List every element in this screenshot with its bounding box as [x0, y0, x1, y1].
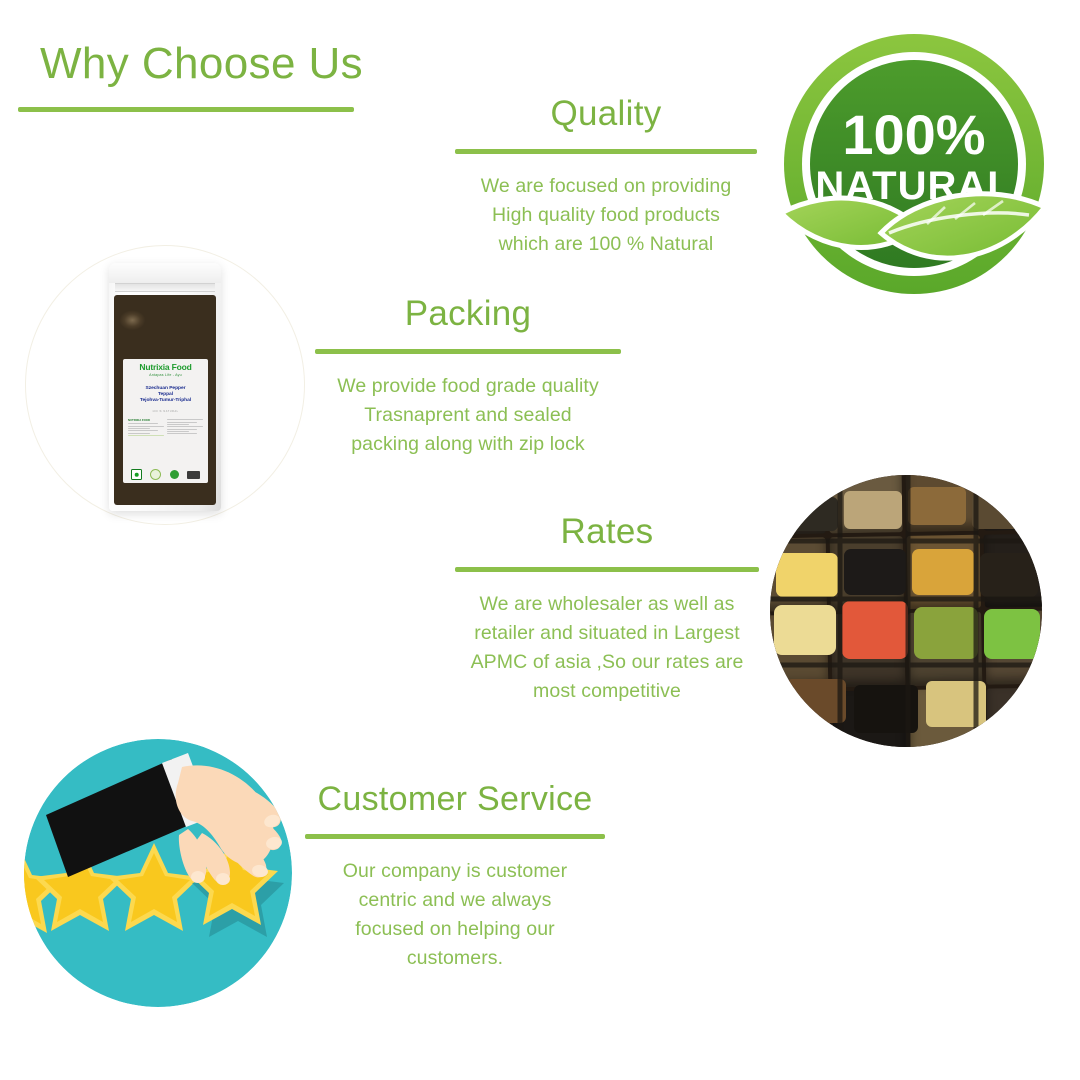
infographic-canvas: Why Choose Us Quality We are focused on …	[0, 0, 1080, 1080]
pouch-top-seal	[109, 263, 221, 283]
pouch-text-line	[128, 428, 150, 429]
bull-mark-icon	[187, 471, 200, 479]
customer-service-figure	[22, 737, 294, 1009]
spice-heap	[782, 497, 838, 531]
section-rates-body: We are wholesaler as well as retailer an…	[455, 590, 759, 706]
pouch-text-line	[167, 431, 189, 432]
pouch-label-right-column	[167, 418, 203, 438]
spice-heap	[972, 493, 1030, 529]
section-quality: Quality We are focused on providing High…	[455, 96, 757, 259]
section-packing-body: We provide food grade quality Trasnapren…	[315, 372, 621, 459]
customer-service-scene	[22, 739, 292, 1007]
page-title-underline	[18, 107, 354, 112]
organic-seal-icon	[150, 469, 161, 480]
pouch-text-line	[167, 419, 203, 420]
pouch-natural-line: 100 % NATURAL	[126, 410, 205, 413]
section-quality-divider	[455, 149, 757, 154]
vegetarian-icon	[170, 470, 179, 479]
page-title: Why Choose Us	[40, 42, 363, 86]
pouch-text-line	[128, 435, 164, 436]
spice-heap	[776, 553, 838, 597]
spice-heap	[984, 609, 1040, 659]
section-packing: Packing We provide food grade quality Tr…	[315, 296, 621, 459]
pouch-text-line	[167, 429, 197, 430]
pouch-text-line	[167, 433, 197, 434]
spice-heap	[912, 549, 974, 595]
spice-heap	[786, 679, 846, 723]
spice-heap	[774, 605, 836, 655]
pouch-label-left-column: NUTRIXIA FOOD	[128, 418, 164, 438]
section-customer-service: Customer Service Our company is customer…	[305, 782, 605, 973]
pouch-brand-name: Nutrixia Food	[126, 363, 205, 372]
pouch-text-line	[128, 430, 158, 431]
section-packing-heading: Packing	[315, 296, 621, 333]
pouch-certification-row	[127, 469, 204, 480]
spice-heaps-overlay	[770, 475, 1042, 747]
pouch-brand-tagline: Antapas Life - Ayu	[126, 373, 205, 377]
section-packing-divider	[315, 349, 621, 354]
section-quality-body: We are focused on providing High quality…	[455, 172, 757, 259]
section-rates-heading: Rates	[455, 514, 759, 551]
section-customer-service-divider	[305, 834, 605, 839]
section-quality-heading: Quality	[455, 96, 757, 133]
product-figure: Nutrixia Food Antapas Life - Ayu Szechua…	[25, 245, 305, 525]
product-pouch: Nutrixia Food Antapas Life - Ayu Szechua…	[109, 263, 221, 511]
pouch-text-line	[128, 426, 164, 427]
badge-percent-text: 100%	[842, 103, 985, 166]
pouch-text-line	[128, 433, 150, 434]
pouch-benefits-heading: NUTRIXIA FOOD	[128, 418, 164, 422]
spice-heap	[914, 607, 978, 659]
pouch-label: Nutrixia Food Antapas Life - Ayu Szechua…	[123, 359, 208, 483]
spice-heap	[908, 487, 966, 525]
pouch-text-line	[167, 426, 203, 427]
veg-mark-icon	[131, 469, 142, 480]
natural-badge: 100% NATURAL	[777, 27, 1052, 302]
pouch-product-title: Szechuan Pepper Teppal Tejohva-Tumur-Tri…	[126, 386, 205, 405]
section-rates: Rates We are wholesaler as well as retai…	[455, 514, 759, 706]
pouch-text-line	[167, 422, 197, 423]
spice-heap	[980, 553, 1038, 597]
spice-heap	[844, 549, 906, 595]
section-customer-service-heading: Customer Service	[305, 782, 605, 818]
pouch-zip-lock	[115, 283, 215, 292]
pouch-text-line	[167, 424, 189, 425]
section-customer-service-body: Our company is customer centric and we a…	[305, 857, 605, 973]
spice-market-photo	[770, 475, 1042, 747]
pouch-text-line	[128, 423, 158, 424]
section-rates-divider	[455, 567, 759, 572]
spice-heap	[844, 491, 902, 529]
pouch-label-columns: NUTRIXIA FOOD	[126, 418, 205, 438]
spice-heap	[842, 601, 908, 659]
